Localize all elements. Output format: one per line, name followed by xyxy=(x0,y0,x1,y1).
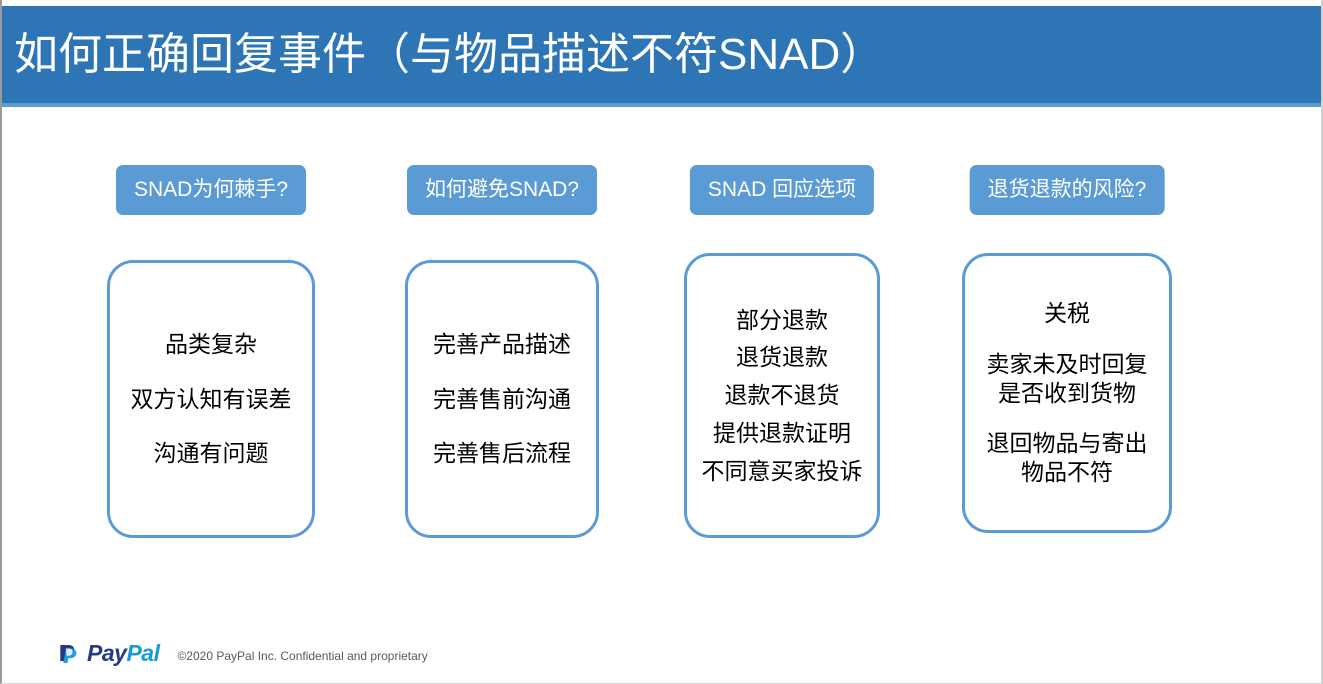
copyright-notice: ©2020 PayPal Inc. Confidential and propr… xyxy=(177,645,427,662)
card-line: 不同意买家投诉 xyxy=(687,457,877,486)
paypal-wordmark-pay: Pay xyxy=(87,640,126,666)
column-card: 完善产品描述 完善售前沟通 完善售后流程 xyxy=(405,260,599,538)
column-badge[interactable]: SNAD 回应选项 xyxy=(690,165,874,215)
card-line-list: 品类复杂 双方认知有误差 沟通有问题 xyxy=(110,330,312,468)
column-badge[interactable]: SNAD为何棘手? xyxy=(116,165,306,215)
column-badge[interactable]: 如何避免SNAD? xyxy=(407,165,597,215)
slide-canvas: 如何正确回复事件（与物品描述不符SNAD） SNAD为何棘手? 品类复杂 双方认… xyxy=(0,0,1323,684)
column-card: 品类复杂 双方认知有误差 沟通有问题 xyxy=(107,260,315,538)
card-line: 品类复杂 xyxy=(110,330,312,359)
card-line: 提供退款证明 xyxy=(687,419,877,448)
card-line: 退回物品与寄出 物品不符 xyxy=(965,429,1169,487)
paypal-wordmark: PayPal xyxy=(87,642,159,665)
content-columns: SNAD为何棘手? 品类复杂 双方认知有误差 沟通有问题 如何避免SNAD? 完… xyxy=(2,107,1323,627)
card-line: 完善产品描述 xyxy=(408,330,596,359)
slide-footer: PayPal ©2020 PayPal Inc. Confidential an… xyxy=(58,642,428,665)
card-line: 关税 xyxy=(965,299,1169,328)
column-card: 关税 卖家未及时回复 是否收到货物 退回物品与寄出 物品不符 xyxy=(962,253,1172,533)
card-line: 部分退款 xyxy=(687,306,877,335)
card-line-list: 完善产品描述 完善售前沟通 完善售后流程 xyxy=(408,330,596,468)
paypal-wordmark-pal: Pal xyxy=(126,640,159,666)
card-line: 退货退款 xyxy=(687,343,877,372)
card-line: 沟通有问题 xyxy=(110,439,312,468)
card-line-list: 关税 卖家未及时回复 是否收到货物 退回物品与寄出 物品不符 xyxy=(965,299,1169,487)
paypal-logo: PayPal xyxy=(58,642,159,665)
column-card: 部分退款 退货退款 退款不退货 提供退款证明 不同意买家投诉 xyxy=(684,253,880,538)
column-badge[interactable]: 退货退款的风险? xyxy=(970,165,1165,215)
slide-title-bar: 如何正确回复事件（与物品描述不符SNAD） xyxy=(2,6,1323,103)
page-title: 如何正确回复事件（与物品描述不符SNAD） xyxy=(14,30,884,78)
card-line: 卖家未及时回复 是否收到货物 xyxy=(965,350,1169,408)
paypal-p-monogram-icon xyxy=(58,643,80,665)
card-line: 完善售前沟通 xyxy=(408,385,596,414)
card-line-list: 部分退款 退货退款 退款不退货 提供退款证明 不同意买家投诉 xyxy=(687,306,877,486)
card-line: 完善售后流程 xyxy=(408,439,596,468)
card-line: 双方认知有误差 xyxy=(110,385,312,414)
card-line: 退款不退货 xyxy=(687,381,877,410)
